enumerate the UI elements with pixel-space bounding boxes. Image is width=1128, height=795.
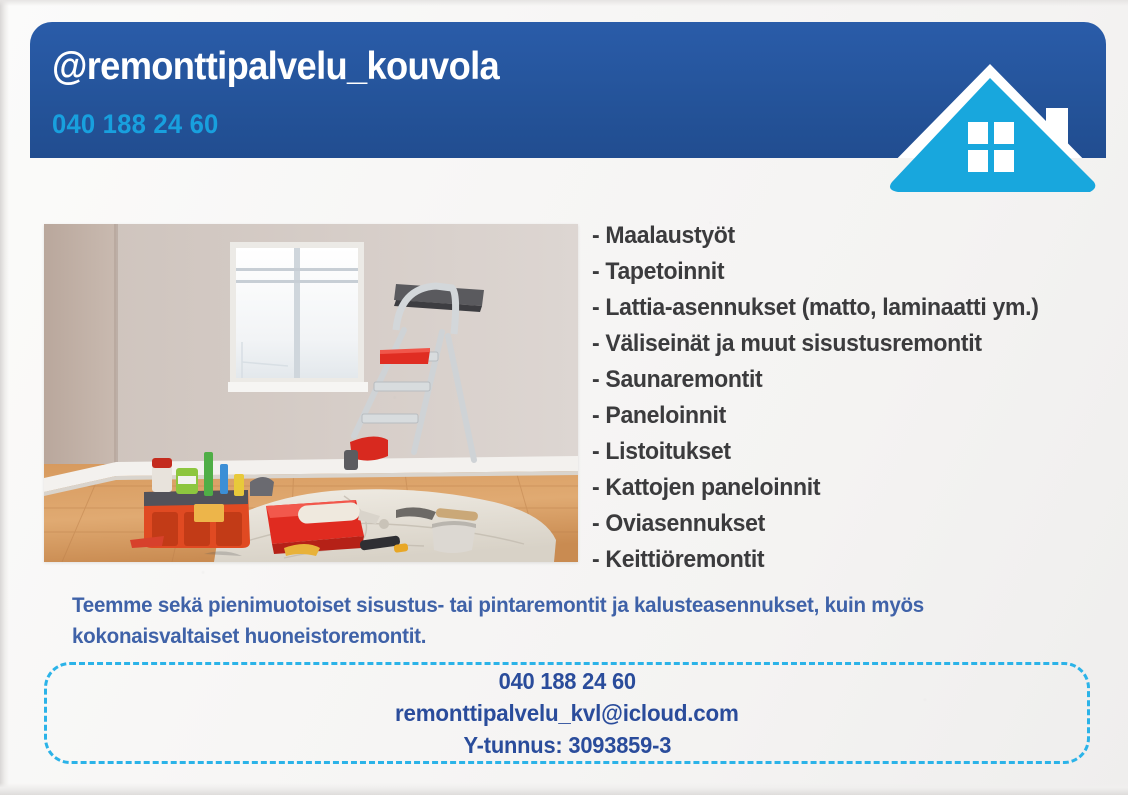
- contact-business-id: Y-tunnus: 3093859-3: [463, 730, 671, 761]
- contact-box: 040 188 24 60 remonttipalvelu_kvl@icloud…: [44, 662, 1090, 764]
- list-item: - Saunaremontit: [592, 362, 1088, 398]
- brand-handle: @remonttipalvelu_kouvola: [52, 45, 499, 89]
- header-phone-number: 040 188 24 60: [52, 109, 219, 140]
- services-list: - Maalaustyöt - Tapetoinnit - Lattia-ase…: [592, 218, 1120, 578]
- scan-edge-top: [0, 0, 1128, 6]
- house-roof-icon: [872, 22, 1112, 206]
- intro-paragraph: Teemme sekä pienimuotoiset sisustus- tai…: [72, 590, 1008, 652]
- list-item: - Tapetoinnit: [592, 254, 1088, 290]
- scan-edge-left: [0, 0, 9, 795]
- list-item: - Oviasennukset: [592, 506, 1088, 542]
- list-item: - Listoitukset: [592, 434, 1088, 470]
- contact-email[interactable]: remonttipalvelu_kvl@icloud.com: [395, 698, 739, 729]
- list-item: - Maalaustyöt: [592, 218, 1088, 254]
- list-item: - Lattia-asennukset (matto, laminaatti y…: [592, 290, 1088, 326]
- list-item: - Väliseinät ja muut sisustusremontit: [592, 326, 1088, 362]
- list-item: - Kattojen paneloinnit: [592, 470, 1088, 506]
- contact-phone[interactable]: 040 188 24 60: [498, 666, 635, 697]
- business-card: @remonttipalvelu_kouvola 040 188 24 60: [0, 0, 1128, 795]
- list-item: - Paneloinnit: [592, 398, 1088, 434]
- list-item: - Keittiöremontit: [592, 542, 1088, 578]
- renovation-photo: [44, 224, 578, 562]
- scan-edge-bottom: [0, 783, 1128, 795]
